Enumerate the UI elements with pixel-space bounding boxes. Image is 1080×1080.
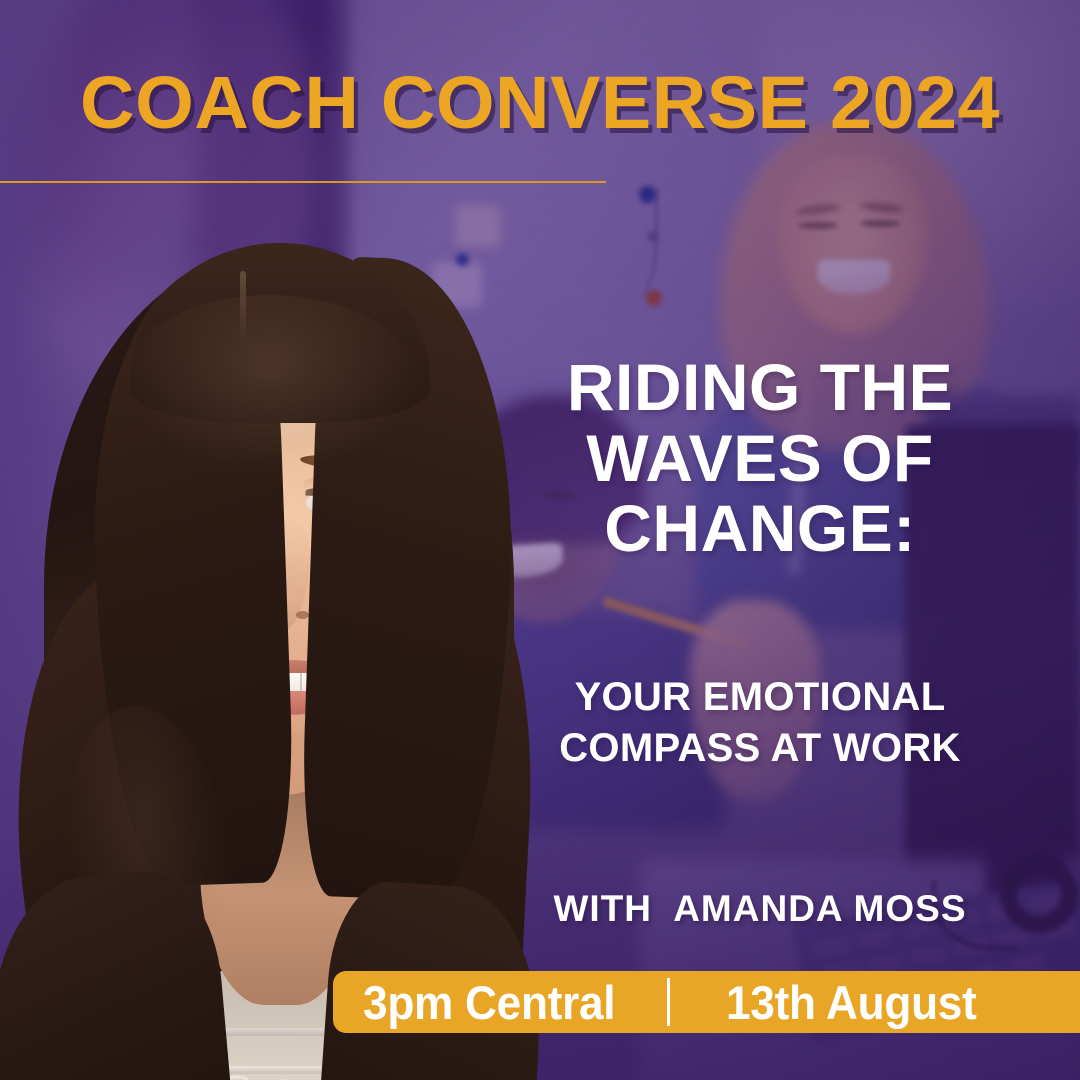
nostril [296, 611, 309, 619]
event-date: 13th August [726, 975, 977, 1030]
event-promo-poster: COACH CONVERSE 2024 RIDING THE WAVES OF … [0, 0, 1080, 1080]
schedule-banner: 3pm Central 13th August [333, 971, 1080, 1033]
event-time: 3pm Central [363, 975, 615, 1030]
event-title: COACH CONVERSE 2024 [0, 60, 1080, 145]
presenter-credit: WITH AMANDA MOSS [520, 888, 1000, 930]
title-divider-rule [0, 181, 606, 183]
speaker-portrait [10, 235, 530, 1080]
headline: RIDING THE WAVES OF CHANGE: [520, 352, 1000, 564]
headline-line-1: RIDING THE [520, 352, 1000, 423]
headline-line-3: CHANGE: [520, 493, 1000, 564]
subheadline-line-2: COMPASS AT WORK [520, 723, 1000, 774]
subheadline: YOUR EMOTIONAL COMPASS AT WORK [520, 672, 1000, 774]
banner-divider [667, 978, 670, 1026]
subheadline-line-1: YOUR EMOTIONAL [520, 672, 1000, 723]
hair-highlight [120, 295, 420, 475]
headline-line-2: WAVES OF [520, 423, 1000, 494]
